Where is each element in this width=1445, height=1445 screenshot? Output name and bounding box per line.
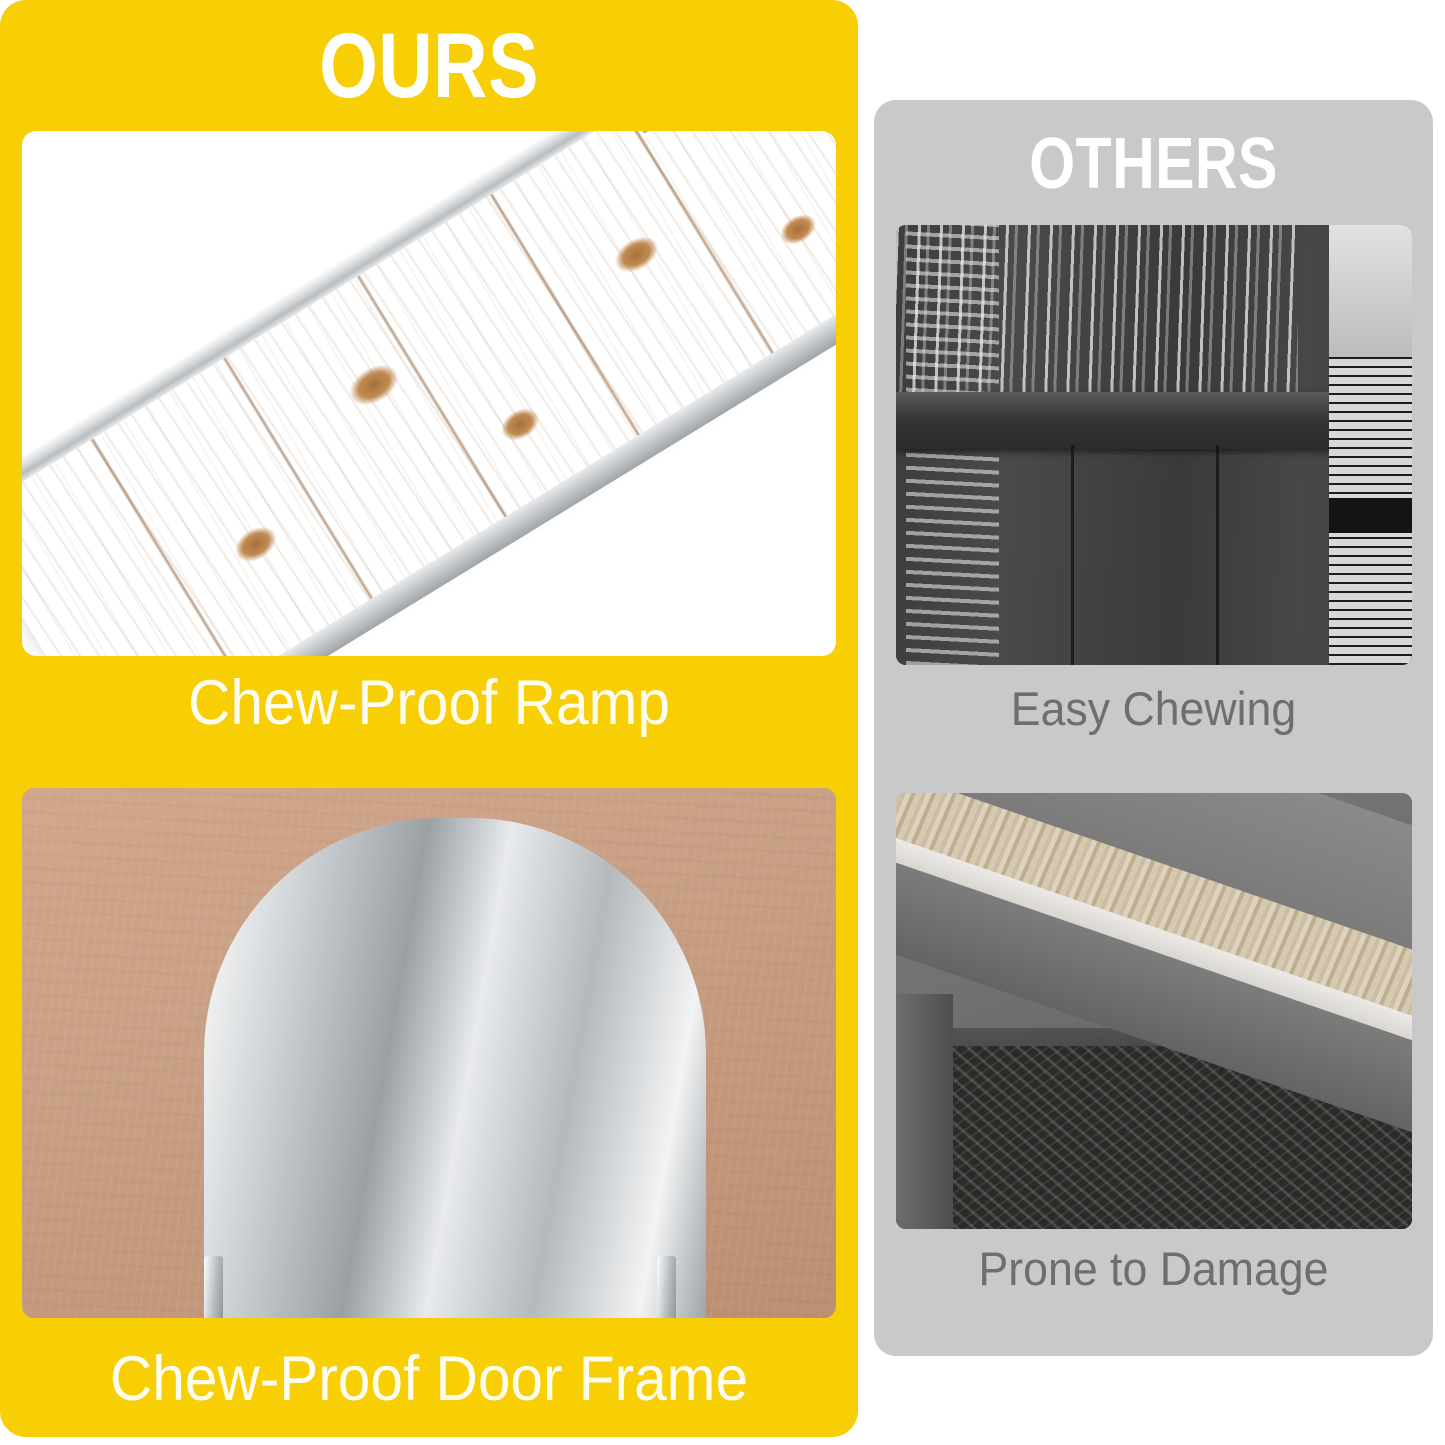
dark-strip — [1329, 498, 1412, 533]
ours-header: OURS — [77, 20, 781, 112]
background-light-area — [1329, 225, 1412, 366]
ramp-scene — [22, 131, 836, 656]
chew-proof-ramp-photo — [22, 131, 836, 656]
ours-caption-1: Chew-Proof Ramp — [30, 672, 828, 735]
others-header: OTHERS — [924, 128, 1382, 200]
horizontal-crossbar — [896, 392, 1350, 449]
prone-to-damage-photo — [896, 793, 1412, 1229]
chew-proof-door-frame-photo — [22, 788, 836, 1318]
gray-post — [896, 994, 953, 1229]
panel-seam — [1071, 445, 1074, 665]
trim-foot-left — [204, 1256, 223, 1318]
panel-seam — [1216, 445, 1219, 665]
metal-door-trim — [204, 818, 706, 1318]
wooden-ramp-board — [22, 131, 836, 656]
ours-panel: OURS — [0, 0, 858, 1437]
others-caption-2: Prone to Damage — [888, 1245, 1419, 1292]
comparison-infographic: OURS — [0, 0, 1445, 1445]
others-caption-1: Easy Chewing — [888, 685, 1419, 732]
trim-foot-right — [657, 1256, 676, 1318]
ours-caption-2: Chew-Proof Door Frame — [30, 1348, 828, 1411]
easy-chewing-photo — [896, 225, 1412, 665]
